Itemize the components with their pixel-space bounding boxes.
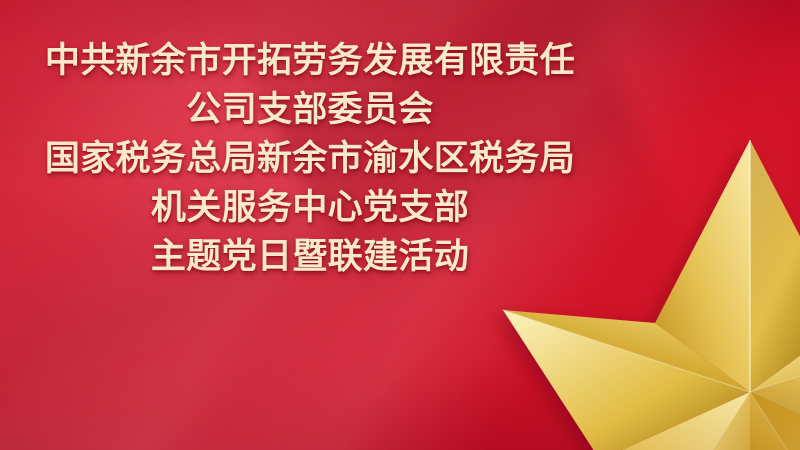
title-line-1: 中共新余市开拓劳务发展有限责任 <box>0 44 620 79</box>
title-line-2: 公司支部委员会 <box>0 93 620 128</box>
title-line-3: 国家税务总局新余市渝水区税务局 <box>0 142 620 177</box>
title-line-4: 机关服务中心党支部 <box>0 191 620 226</box>
banner-canvas: 中共新余市开拓劳务发展有限责任 公司支部委员会 国家税务总局新余市渝水区税务局 … <box>0 0 800 450</box>
title-line-5: 主题党日暨联建活动 <box>0 240 620 275</box>
title-block: 中共新余市开拓劳务发展有限责任 公司支部委员会 国家税务总局新余市渝水区税务局 … <box>0 44 620 275</box>
